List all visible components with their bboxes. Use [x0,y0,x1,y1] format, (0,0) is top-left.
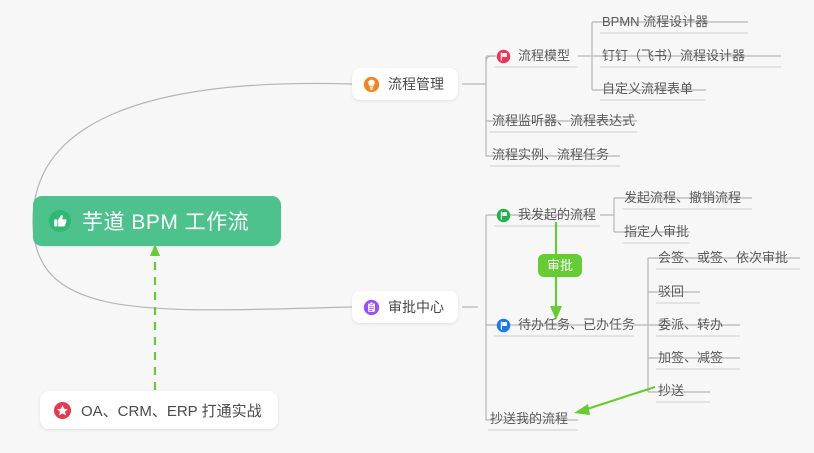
root-node[interactable]: 芋道 BPM 工作流 [33,196,281,246]
node-start-cancel-process[interactable]: 发起流程、撤销流程 [622,187,741,209]
branch-node-process-management[interactable]: 流程管理 [352,68,458,100]
dashed-arrow-to-root [150,244,160,390]
node-delegate-transfer[interactable]: 委派、转办 [656,314,723,336]
lightbulb-icon [363,76,380,93]
node-label: 加签、减签 [658,347,723,369]
node-dingtalk-designer[interactable]: 钉钉（飞书）流程设计器 [600,45,745,67]
node-cc-to-me[interactable]: 抄送我的流程 [488,408,568,430]
root-label: 芋道 BPM 工作流 [82,206,249,236]
node-label: 自定义流程表单 [602,78,693,100]
node-add-remove-sign[interactable]: 加签、减签 [656,347,723,369]
node-cc[interactable]: 抄送 [656,380,684,402]
approval-tag: 审批 [538,254,582,277]
link-process-bracket [478,57,486,156]
bottom-note-label: OA、CRM、ERP 打通实战 [81,400,262,421]
node-label: 流程监听器、流程表达式 [492,110,635,132]
node-label: 待办任务、已办任务 [518,314,635,336]
node-label: 流程实例、流程任务 [492,144,609,166]
branch-node-approval-center[interactable]: 审批中心 [352,291,458,323]
node-label: 抄送 [658,380,684,402]
branch-label: 流程管理 [388,74,444,94]
approval-tag-label: 审批 [547,258,573,273]
flag-icon [496,208,511,223]
node-label: 驳回 [658,281,684,303]
node-bpmn-designer[interactable]: BPMN 流程设计器 [600,11,708,33]
node-custom-form[interactable]: 自定义流程表单 [600,78,693,100]
node-countersign[interactable]: 会签、或签、依次审批 [656,247,788,269]
node-process-model[interactable]: 流程模型 [494,45,570,67]
mindmap-canvas: 芋道 BPM 工作流 流程管理 流程模型 BPMN 流程设计器 钉钉（飞书）流程 [0,0,814,453]
node-assignee-approval[interactable]: 指定人审批 [622,221,689,243]
node-label: 钉钉（飞书）流程设计器 [602,45,745,67]
node-reject[interactable]: 驳回 [656,281,684,303]
node-label: 发起流程、撤销流程 [624,187,741,209]
flag-icon [496,318,511,333]
node-todo-done-tasks[interactable]: 待办任务、已办任务 [494,314,635,336]
node-label: 会签、或签、依次审批 [658,247,788,269]
node-label: 抄送我的流程 [490,408,568,430]
node-label: 指定人审批 [624,221,689,243]
node-label: 我发起的流程 [518,204,596,226]
clipboard-icon [363,299,380,316]
node-label: 流程模型 [518,45,570,67]
flag-icon [496,49,511,64]
node-process-instance[interactable]: 流程实例、流程任务 [490,144,609,166]
branch-label: 审批中心 [388,297,444,317]
node-process-listener[interactable]: 流程监听器、流程表达式 [490,110,635,132]
star-icon [53,401,72,420]
cc-flow-arrow [574,387,655,415]
bottom-note-node[interactable]: OA、CRM、ERP 打通实战 [40,391,278,429]
node-my-started-processes[interactable]: 我发起的流程 [494,204,596,226]
node-label: BPMN 流程设计器 [602,11,708,33]
thumbs-up-icon [48,209,72,233]
node-label: 委派、转办 [658,314,723,336]
